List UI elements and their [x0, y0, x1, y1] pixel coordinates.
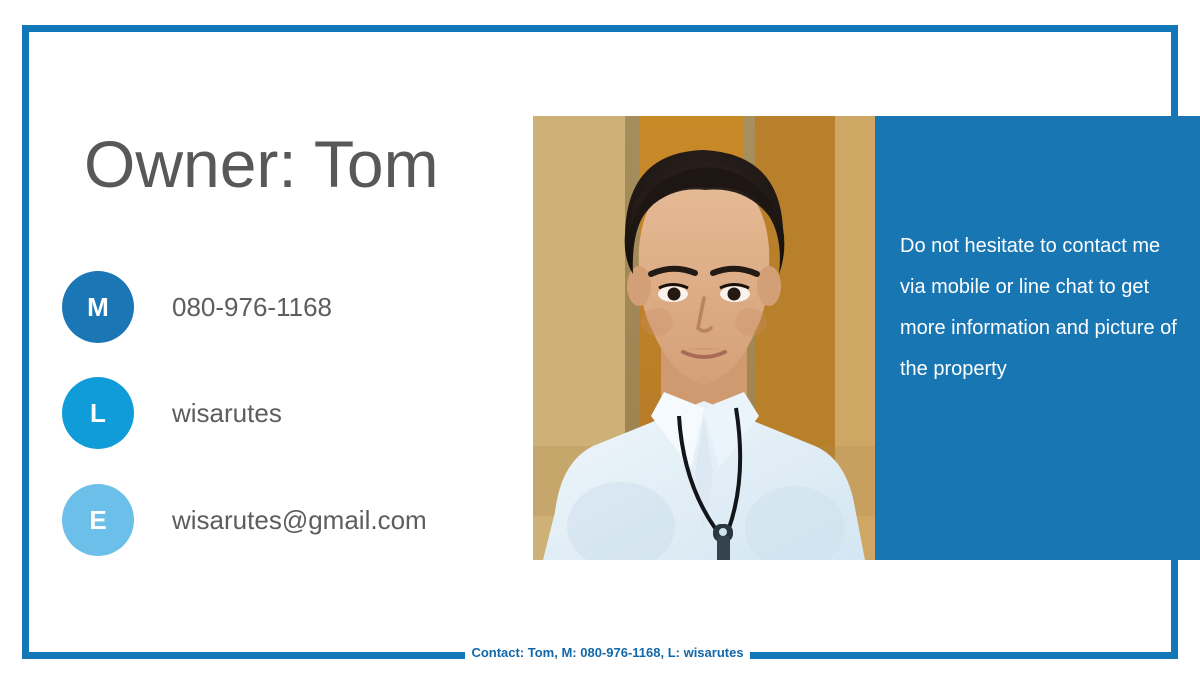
- frame-border-bottom-right: [750, 652, 1178, 659]
- frame-border-bottom-left: [22, 652, 465, 659]
- footer-contact-line: Contact: Tom, M: 080-976-1168, L: wisaru…: [465, 645, 750, 660]
- line-badge-icon: L: [62, 377, 134, 449]
- contact-row-mobile[interactable]: M 080-976-1168: [62, 271, 332, 343]
- contact-value-mobile: 080-976-1168: [172, 292, 332, 323]
- contact-value-line: wisarutes: [172, 398, 282, 429]
- mobile-badge-icon: M: [62, 271, 134, 343]
- contact-value-email: wisarutes@gmail.com: [172, 505, 427, 536]
- frame-border-left: [22, 25, 29, 659]
- frame-border-top: [22, 25, 1178, 32]
- owner-photo: [533, 116, 875, 560]
- note-text: Do not hesitate to contact me via mobile…: [900, 226, 1185, 390]
- contact-row-email[interactable]: E wisarutes@gmail.com: [62, 484, 427, 556]
- email-badge-icon: E: [62, 484, 134, 556]
- page-title: Owner: Tom: [84, 126, 439, 202]
- note-panel: Do not hesitate to contact me via mobile…: [875, 116, 1200, 560]
- slide-canvas: Owner: Tom M 080-976-1168 L wisarutes E …: [0, 0, 1200, 675]
- contact-row-line[interactable]: L wisarutes: [62, 377, 282, 449]
